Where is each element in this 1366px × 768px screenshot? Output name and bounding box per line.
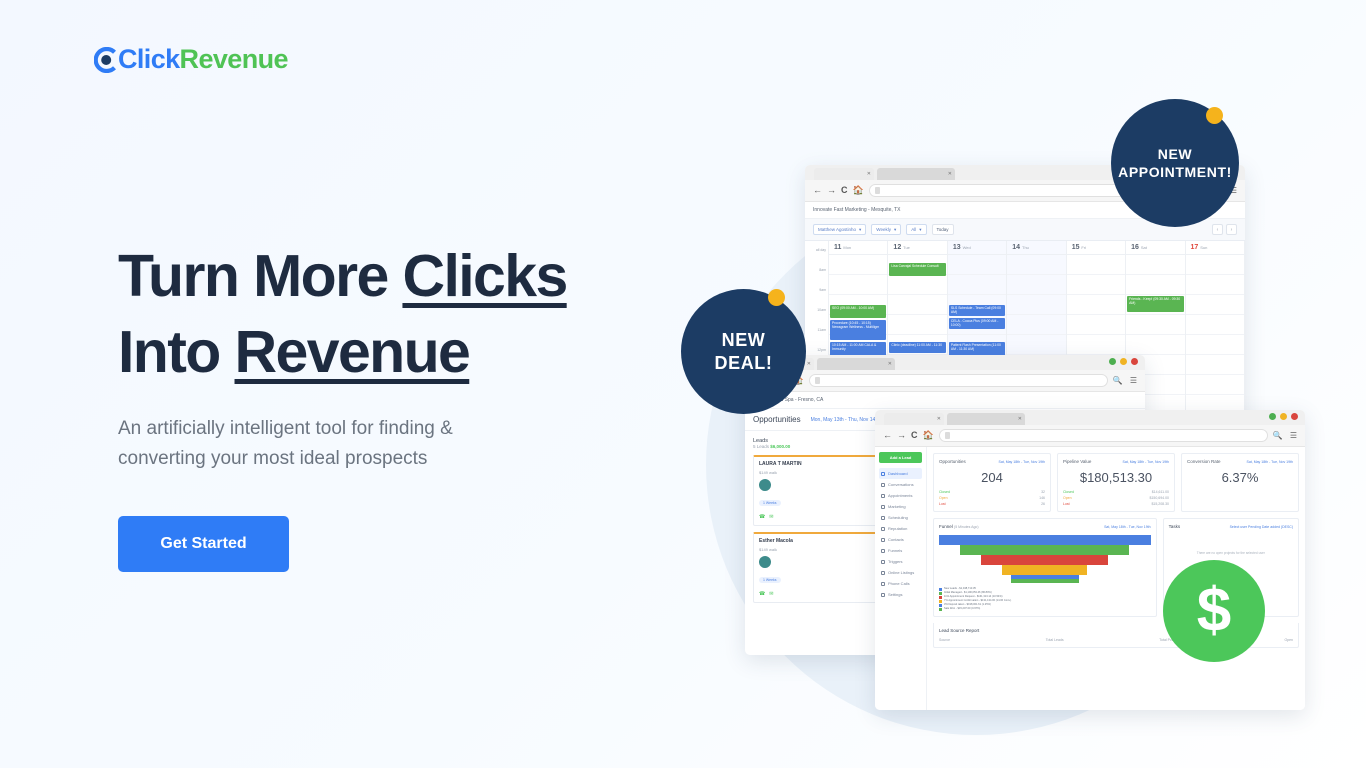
calendar-slot[interactable] xyxy=(1067,295,1125,315)
calendar-slot[interactable] xyxy=(888,295,946,315)
chevron-down-icon: ▾ xyxy=(919,227,921,233)
sidebar-item-label: Marketing xyxy=(888,504,906,509)
window-close-dot[interactable] xyxy=(1131,358,1138,365)
forward-arrow-icon[interactable]: → xyxy=(827,186,836,195)
dashboard-sidebar[interactable]: Add a Lead DashboardConversationsAppoint… xyxy=(875,447,927,710)
avatar xyxy=(759,556,771,568)
legend-swatch xyxy=(939,592,942,595)
nav-icon xyxy=(881,483,885,487)
search-icon[interactable]: 🔍 xyxy=(1113,376,1123,385)
stat-breakdown-row: Lost$15,208.30 xyxy=(1063,502,1169,506)
page-doc-icon xyxy=(945,432,950,439)
calendar-time-label: 8am xyxy=(805,261,828,281)
funnel-title-text: Funnel xyxy=(939,524,953,529)
calendar-event[interactable]: Clinic (deadline) 11:00 AM - 11:30 xyxy=(889,342,945,353)
stat-breakdown-row: Closed32 xyxy=(939,490,1045,494)
funnel-segment xyxy=(981,555,1108,565)
calendar-pagination[interactable]: ‹ › xyxy=(1212,224,1237,235)
pipeline-breadcrumb: Bodingik Med Spa - Fresno, CA xyxy=(745,392,1145,409)
sidebar-item-label: Triggers xyxy=(888,559,903,564)
sidebar-item-appointments[interactable]: Appointments xyxy=(879,490,922,501)
sidebar-item-settings[interactable]: Settings xyxy=(879,589,922,600)
headline-underline-1: Clicks xyxy=(402,243,566,309)
calendar-slot[interactable] xyxy=(829,275,887,295)
calendar-slot[interactable] xyxy=(1186,355,1244,375)
nav-icon xyxy=(881,527,885,531)
legend-swatch xyxy=(939,608,942,611)
sidebar-item-label: Phone Calls xyxy=(888,581,910,586)
sidebar-item-label: Online Listings xyxy=(888,570,914,575)
calendar-day-column[interactable]: 17 Sun xyxy=(1186,241,1245,426)
headline-text-2: Into xyxy=(118,319,235,385)
chevron-down-icon: ▾ xyxy=(859,227,861,233)
dollar-badge: $ xyxy=(1163,560,1265,662)
stat-date-range[interactable]: Sat, May 18th - Tue, Nov 19th xyxy=(999,460,1046,464)
stat-card: OpportunitiesSat, May 18th - Tue, Nov 19… xyxy=(933,453,1051,512)
nav-icon xyxy=(881,505,885,509)
brand-name-second: Revenue xyxy=(180,44,288,75)
calendar-slot[interactable] xyxy=(1067,335,1125,355)
tasks-filters[interactable]: Select user Pending Date added (DESC) xyxy=(1230,525,1293,529)
report-column-header: Source xyxy=(939,638,950,642)
calendar-slot[interactable] xyxy=(1186,315,1244,335)
brand-name-first: Click xyxy=(118,44,180,75)
address-bar[interactable] xyxy=(809,374,1108,387)
new-appointment-line1: NEW xyxy=(1158,145,1192,163)
legend-swatch xyxy=(939,596,942,599)
calendar-slot[interactable] xyxy=(1007,335,1065,355)
funnel-legend-item: Sale Won - $15,207.00 (0.97%) xyxy=(939,607,1151,611)
calendar-prev-button[interactable]: ‹ xyxy=(1212,224,1223,235)
calendar-day-header: 14 Thu xyxy=(1007,241,1065,255)
calendar-filter-user[interactable]: Matthew Agostinho▾ xyxy=(813,224,866,235)
browser-toolbar[interactable]: ← → C 🏠 🔍 ☰ xyxy=(875,425,1305,447)
calendar-slot[interactable] xyxy=(1126,335,1184,355)
dollar-sign-icon: $ xyxy=(1197,580,1231,642)
reload-icon[interactable]: C xyxy=(911,431,918,440)
calendar-slot[interactable] xyxy=(1186,295,1244,315)
forward-arrow-icon[interactable]: → xyxy=(897,431,906,440)
sidebar-item-label: Reputation xyxy=(888,526,907,531)
calendar-today-button[interactable]: Today xyxy=(932,224,954,235)
calendar-filter-view[interactable]: Weekly▾ xyxy=(871,224,901,235)
get-started-button[interactable]: Get Started xyxy=(118,516,289,572)
stat-value: 204 xyxy=(939,470,1045,485)
funnel-segment xyxy=(960,545,1129,555)
sidebar-item-conversations[interactable]: Conversations xyxy=(879,479,922,490)
calendar-day-header: 15 Fri xyxy=(1067,241,1125,255)
calendar-time-label: 11am xyxy=(805,321,828,341)
stat-cards-row: OpportunitiesSat, May 18th - Tue, Nov 19… xyxy=(933,453,1299,512)
nav-icon xyxy=(881,549,885,553)
sidebar-item-label: Funnels xyxy=(888,548,902,553)
home-icon[interactable]: 🏠 xyxy=(923,431,934,440)
sidebar-item-dashboard[interactable]: Dashboard xyxy=(879,468,922,479)
chat-icon[interactable]: ✉ xyxy=(769,514,773,520)
calendar-slot[interactable] xyxy=(1186,275,1244,295)
funnel-date-range[interactable]: Sat, May 18th - Tue, Nov 19th xyxy=(1104,525,1151,529)
new-deal-line2: DEAL! xyxy=(715,352,773,375)
legend-swatch xyxy=(939,604,942,607)
legend-swatch xyxy=(939,588,942,591)
hero-subtitle: An artificially intelligent tool for fin… xyxy=(118,414,518,474)
calendar-event[interactable]: Friends - Keep! (09:30 AM - 09:30 AM) xyxy=(1127,296,1183,312)
lead-card-tag: 1 Weeks xyxy=(759,577,781,583)
funnel-legend: New Leads - $1,048,713.35Initial Managed… xyxy=(939,587,1151,611)
sidebar-item-label: Appointments xyxy=(888,493,912,498)
nav-icon xyxy=(881,593,885,597)
nav-icon xyxy=(881,516,885,520)
report-column-header: Open xyxy=(1284,638,1293,642)
nav-icon xyxy=(881,472,885,476)
window-minimize-dot[interactable] xyxy=(1109,358,1116,365)
menu-icon[interactable]: ☰ xyxy=(1290,431,1297,440)
reload-icon[interactable]: C xyxy=(841,186,848,195)
new-deal-badge: NEW DEAL! xyxy=(681,289,806,414)
page-doc-icon xyxy=(815,377,820,384)
calendar-slot[interactable] xyxy=(948,275,1006,295)
tasks-panel-title: Tasks xyxy=(1169,524,1181,529)
sidebar-item-funnels[interactable]: Funnels xyxy=(879,545,922,556)
calendar-slot[interactable] xyxy=(1007,255,1065,275)
nav-icon xyxy=(881,538,885,542)
calendar-time-label: all day xyxy=(805,241,828,261)
calendar-slot[interactable] xyxy=(1007,275,1065,295)
stat-breakdown-row: Open146 xyxy=(939,496,1045,500)
browser-tab[interactable]: ✕ xyxy=(884,413,944,425)
browser-tab-active[interactable]: ✕ xyxy=(947,413,1025,425)
calendar-slot[interactable] xyxy=(948,255,1006,275)
calendar-slot[interactable] xyxy=(1186,375,1244,395)
new-appointment-line2: APPOINTMENT! xyxy=(1118,163,1232,181)
nav-icon xyxy=(881,582,885,586)
phone-icon[interactable]: ☎ xyxy=(759,514,765,520)
stat-date-range[interactable]: Sat, May 18th - Tue, Nov 19th xyxy=(1123,460,1170,464)
browser-tab-active[interactable]: ✕ xyxy=(877,168,955,180)
sidebar-item-label: Dashboard xyxy=(888,471,908,476)
headline-text-1: Turn More xyxy=(118,243,402,309)
sidebar-item-marketing[interactable]: Marketing xyxy=(879,501,922,512)
stat-breakdown-row: Lost26 xyxy=(939,502,1045,506)
calendar-slot[interactable] xyxy=(1067,275,1125,295)
calendar-slot[interactable] xyxy=(829,255,887,275)
calendar-filter-all[interactable]: All▾ xyxy=(906,224,926,235)
calendar-slot[interactable] xyxy=(1007,295,1065,315)
calendar-day-header: 12 Tue xyxy=(888,241,946,255)
browser-tab[interactable]: ✕ xyxy=(814,168,874,180)
browser-toolbar[interactable]: ← → C 🏠 🔍 ☰ xyxy=(745,370,1145,392)
calendar-time-label: 9am xyxy=(805,281,828,301)
window-minimize-dot[interactable] xyxy=(1269,413,1276,420)
calendar-filter-all-label: All xyxy=(911,227,916,232)
landing-page: ClickRevenue Turn More Clicks Into Reven… xyxy=(0,0,1366,768)
funnel-panel: Funnel (5 Minutes Ago) Sat, May 18th - T… xyxy=(933,518,1157,617)
sidebar-item-contacts[interactable]: Contacts xyxy=(879,534,922,545)
calendar-event[interactable]: SEO (09:00 AM - 10:00 AM) xyxy=(830,305,886,318)
funnel-segment xyxy=(1011,579,1079,583)
address-bar[interactable] xyxy=(939,429,1268,442)
sidebar-item-label: Conversations xyxy=(888,482,914,487)
calendar-slot[interactable] xyxy=(1067,255,1125,275)
page-doc-icon xyxy=(875,187,880,194)
menu-icon[interactable]: ☰ xyxy=(1130,376,1137,385)
calendar-event[interactable]: Procedure (10:45 - 10:15) Newsgram Welln… xyxy=(830,320,886,340)
add-lead-button[interactable]: Add a Lead xyxy=(879,452,922,463)
calendar-next-button[interactable]: › xyxy=(1226,224,1237,235)
stat-date-range[interactable]: Sat, May 18th - Tue, Nov 19th xyxy=(1247,460,1294,464)
stat-card: Pipeline ValueSat, May 18th - Tue, Nov 1… xyxy=(1057,453,1175,512)
calendar-event[interactable]: SLS Schedule - Team Call (09:00 AM) xyxy=(949,305,1005,316)
window-maximize-dot[interactable] xyxy=(1120,358,1127,365)
search-icon[interactable]: 🔍 xyxy=(1273,431,1283,440)
report-column-header: Total Leads xyxy=(1046,638,1064,642)
funnel-subtitle: (5 Minutes Ago) xyxy=(954,525,979,529)
stat-value: 6.37% xyxy=(1187,470,1293,485)
hero-illustration: ✕ ✕ ← → C 🏠 🔍 ☰ Innovate xyxy=(640,60,1366,740)
calendar-day-header: 13 Wed xyxy=(948,241,1006,255)
pipeline-date-range[interactable]: Mon, May 13th - Thu, Nov 14th xyxy=(811,417,880,423)
sidebar-item-reputation[interactable]: Reputation xyxy=(879,523,922,534)
tasks-empty-text: There are no open projects for the selec… xyxy=(1169,551,1293,555)
calendar-day-header: 17 Sun xyxy=(1186,241,1244,255)
chevron-down-icon: ▾ xyxy=(894,227,896,233)
calendar-event[interactable]: CELA - Cocoa Plus (09:00 AM - 10:00) xyxy=(949,318,1005,329)
stat-breakdown-row: Closed$14,611.00 xyxy=(1063,490,1169,494)
calendar-time-label: 10am xyxy=(805,301,828,321)
funnel-segment xyxy=(1002,565,1087,575)
calendar-slot[interactable] xyxy=(1126,255,1184,275)
page-title: Turn More Clicks Into Revenue xyxy=(118,238,678,390)
stat-label: Opportunities xyxy=(939,459,966,464)
sidebar-item-label: Contacts xyxy=(888,537,904,542)
calendar-event[interactable]: Lisa Carvajal Schedule Consult xyxy=(889,263,945,276)
stat-value: $180,513.30 xyxy=(1063,470,1169,485)
nav-icon xyxy=(881,560,885,564)
sidebar-item-triggers[interactable]: Triggers xyxy=(879,556,922,567)
sidebar-item-online-listings[interactable]: Online Listings xyxy=(879,567,922,578)
sidebar-item-phone-calls[interactable]: Phone Calls xyxy=(879,578,922,589)
calendar-slot[interactable] xyxy=(1067,315,1125,335)
back-arrow-icon[interactable]: ← xyxy=(813,186,822,195)
calendar-slot[interactable] xyxy=(1186,335,1244,355)
browser-tab-bar[interactable]: ✕ ✕ xyxy=(875,410,1305,425)
home-icon[interactable]: 🏠 xyxy=(853,186,864,195)
calendar-slot[interactable] xyxy=(1126,315,1184,335)
stat-card: Conversion RateSat, May 18th - Tue, Nov … xyxy=(1181,453,1299,512)
funnel-panel-title: Funnel (5 Minutes Ago) xyxy=(939,524,979,529)
window-close-dot[interactable] xyxy=(1291,413,1298,420)
nav-icon xyxy=(881,571,885,575)
calendar-slot[interactable] xyxy=(1007,315,1065,335)
deal-accent-dot xyxy=(768,289,785,306)
hero-section: Turn More Clicks Into Revenue An artific… xyxy=(118,238,678,572)
funnel-segment xyxy=(939,535,1151,545)
calendar-filter-view-label: Weekly xyxy=(876,227,891,232)
appointment-accent-dot xyxy=(1206,107,1223,124)
nav-icon xyxy=(881,494,885,498)
avatar xyxy=(759,479,771,491)
sidebar-item-label: Settings xyxy=(888,592,902,597)
browser-tab-active[interactable]: ✕ xyxy=(817,358,895,370)
legend-label: Sale Won - $15,207.00 (0.97%) xyxy=(944,607,980,611)
lead-card-tag: 1 Weeks xyxy=(759,500,781,506)
calendar-filter-user-label: Matthew Agostinho xyxy=(818,227,856,232)
dashboard-browser-window[interactable]: ✕ ✕ ← → C 🏠 🔍 ☰ xyxy=(875,410,1305,710)
headline-underline-2: Revenue xyxy=(235,319,470,385)
click-cursor-c-icon xyxy=(94,47,118,73)
calendar-slot[interactable] xyxy=(1186,255,1244,275)
phone-icon[interactable]: ☎ xyxy=(759,591,765,597)
stat-label: Pipeline Value xyxy=(1063,459,1091,464)
window-controls[interactable] xyxy=(1109,358,1138,365)
funnel-chart xyxy=(939,535,1151,583)
new-deal-line1: NEW xyxy=(722,329,766,352)
stat-label: Conversion Rate xyxy=(1187,459,1221,464)
back-arrow-icon[interactable]: ← xyxy=(883,431,892,440)
pipeline-title: Opportunities xyxy=(753,415,801,424)
stat-breakdown-row: Open$150,694.00 xyxy=(1063,496,1169,500)
calendar-slot[interactable] xyxy=(1126,275,1184,295)
calendar-slot[interactable] xyxy=(888,275,946,295)
calendar-slot[interactable] xyxy=(888,315,946,335)
legend-swatch xyxy=(939,600,942,603)
brand-logo[interactable]: ClickRevenue xyxy=(94,44,288,75)
chat-icon[interactable]: ✉ xyxy=(769,591,773,597)
window-maximize-dot[interactable] xyxy=(1280,413,1287,420)
calendar-day-header: 16 Sat xyxy=(1126,241,1184,255)
sidebar-item-label: Scheduling xyxy=(888,515,908,520)
calendar-day-header: 11 Mon xyxy=(829,241,887,255)
window-controls[interactable] xyxy=(1269,413,1298,420)
sidebar-item-scheduling[interactable]: Scheduling xyxy=(879,512,922,523)
